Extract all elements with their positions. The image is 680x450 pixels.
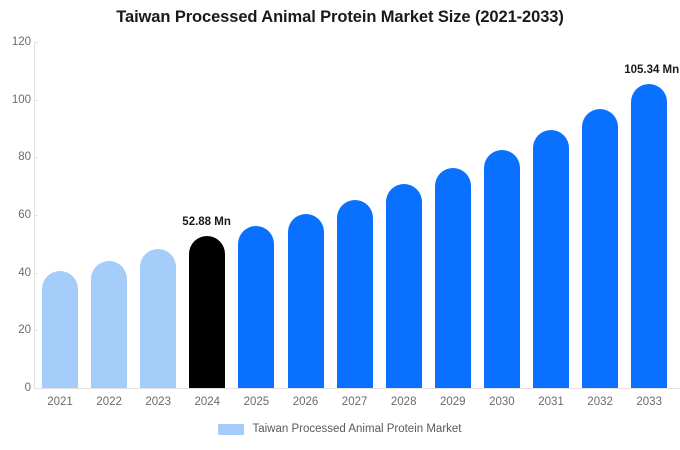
bar-2033[interactable] [631, 84, 667, 388]
x-axis-tick-2031: 2031 [526, 396, 576, 408]
y-axis-tick-mark [34, 388, 38, 389]
bar-2028[interactable] [386, 184, 422, 388]
y-axis-tick-100: 100 [3, 94, 31, 106]
bar-2022[interactable] [91, 261, 127, 388]
chart-container: Taiwan Processed Animal Protein Market S… [0, 0, 680, 450]
y-axis-tick-mark [34, 157, 38, 158]
x-axis-tick-2030: 2030 [477, 396, 527, 408]
x-axis-tick-2023: 2023 [133, 396, 183, 408]
bar-2029[interactable] [435, 168, 471, 388]
legend-item[interactable]: Taiwan Processed Animal Protein Market [218, 423, 461, 435]
bar-2031[interactable] [533, 130, 569, 388]
y-axis-tick-mark [34, 273, 38, 274]
x-axis-tick-2032: 2032 [575, 396, 625, 408]
bar-2026[interactable] [288, 214, 324, 388]
chart-legend: Taiwan Processed Animal Protein Market [0, 423, 680, 435]
y-axis-tick-mark [34, 100, 38, 101]
x-axis-tick-2027: 2027 [330, 396, 380, 408]
bar-2027[interactable] [337, 200, 373, 388]
x-axis-tick-2026: 2026 [281, 396, 331, 408]
chart-title: Taiwan Processed Animal Protein Market S… [0, 8, 680, 27]
bar-2021[interactable] [42, 271, 78, 388]
x-axis-tick-2022: 2022 [84, 396, 134, 408]
legend-color-swatch [218, 424, 244, 435]
y-axis-tick-labels: 020406080100120 [0, 0, 31, 450]
y-axis-tick-mark [34, 330, 38, 331]
y-axis-tick-20: 20 [3, 324, 31, 336]
bar-2025[interactable] [238, 226, 274, 388]
data-label-2033: 105.34 Mn [624, 64, 679, 76]
y-axis-tick-80: 80 [3, 151, 31, 163]
data-label-2024: 52.88 Mn [182, 216, 231, 228]
x-axis-tick-2021: 2021 [35, 396, 85, 408]
y-axis-tick-mark [34, 42, 38, 43]
legend-item-label: Taiwan Processed Animal Protein Market [252, 423, 461, 435]
x-axis-tick-2025: 2025 [231, 396, 281, 408]
bar-2030[interactable] [484, 150, 520, 388]
x-axis-tick-2028: 2028 [379, 396, 429, 408]
y-axis-tick-120: 120 [3, 36, 31, 48]
plot-area [34, 42, 680, 388]
x-axis-tick-2033: 2033 [624, 396, 674, 408]
x-axis-tick-2024: 2024 [182, 396, 232, 408]
bar-2024[interactable] [189, 236, 225, 388]
bar-2032[interactable] [582, 109, 618, 388]
y-axis-tick-mark [34, 215, 38, 216]
y-axis-tick-0: 0 [3, 382, 31, 394]
x-axis-line [34, 388, 680, 389]
y-axis-tick-60: 60 [3, 209, 31, 221]
bar-2023[interactable] [140, 249, 176, 388]
y-axis-tick-40: 40 [3, 267, 31, 279]
x-axis-tick-2029: 2029 [428, 396, 478, 408]
